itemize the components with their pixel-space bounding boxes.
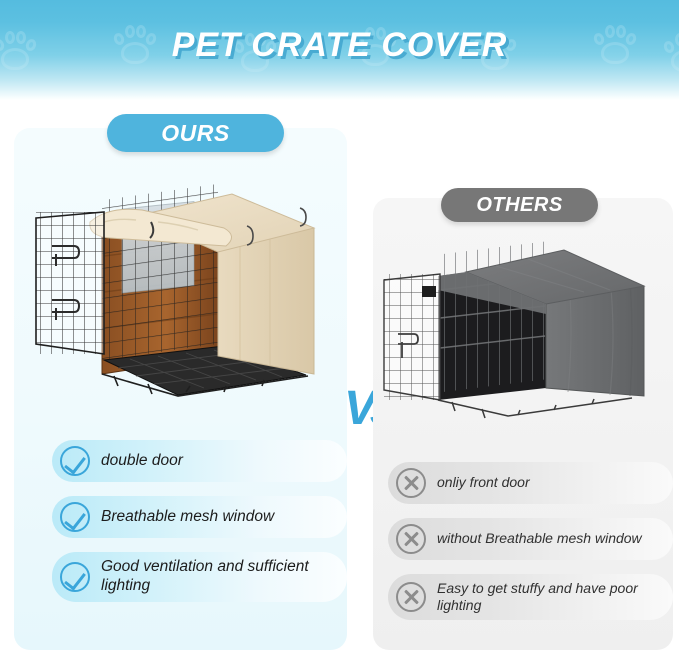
feature-label: onliy front door xyxy=(437,474,530,491)
list-item: without Breathable mesh window xyxy=(388,518,673,560)
others-product-image xyxy=(378,240,663,425)
list-item: Breathable mesh window xyxy=(52,496,347,538)
page-title: PET CRATE COVER xyxy=(0,26,679,65)
others-badge-label: OTHERS xyxy=(476,194,562,217)
others-badge: OTHERS xyxy=(441,188,598,222)
ours-badge: OURS xyxy=(107,114,284,152)
ours-feature-list: double door Breathable mesh window Good … xyxy=(52,440,347,616)
x-circle-icon xyxy=(396,468,426,498)
x-circle-icon xyxy=(396,582,426,612)
x-circle-icon xyxy=(396,524,426,554)
check-circle-icon xyxy=(60,502,90,532)
feature-label: Breathable mesh window xyxy=(101,508,274,527)
list-item: Easy to get stuffy and have poor lightin… xyxy=(388,574,673,620)
check-circle-icon xyxy=(60,562,90,592)
feature-label: without Breathable mesh window xyxy=(437,530,642,547)
ours-badge-label: OURS xyxy=(161,120,229,147)
list-item: Good ventilation and sufficient lighting xyxy=(52,552,347,602)
list-item: onliy front door xyxy=(388,462,673,504)
list-item: double door xyxy=(52,440,347,482)
page-header: PET CRATE COVER xyxy=(0,0,679,100)
others-feature-list: onliy front door without Breathable mesh… xyxy=(388,462,673,634)
feature-label: Easy to get stuffy and have poor lightin… xyxy=(437,580,663,614)
feature-label: Good ventilation and sufficient lighting xyxy=(101,558,337,596)
check-circle-icon xyxy=(60,446,90,476)
feature-label: double door xyxy=(101,452,183,471)
ours-product-image xyxy=(18,160,343,410)
